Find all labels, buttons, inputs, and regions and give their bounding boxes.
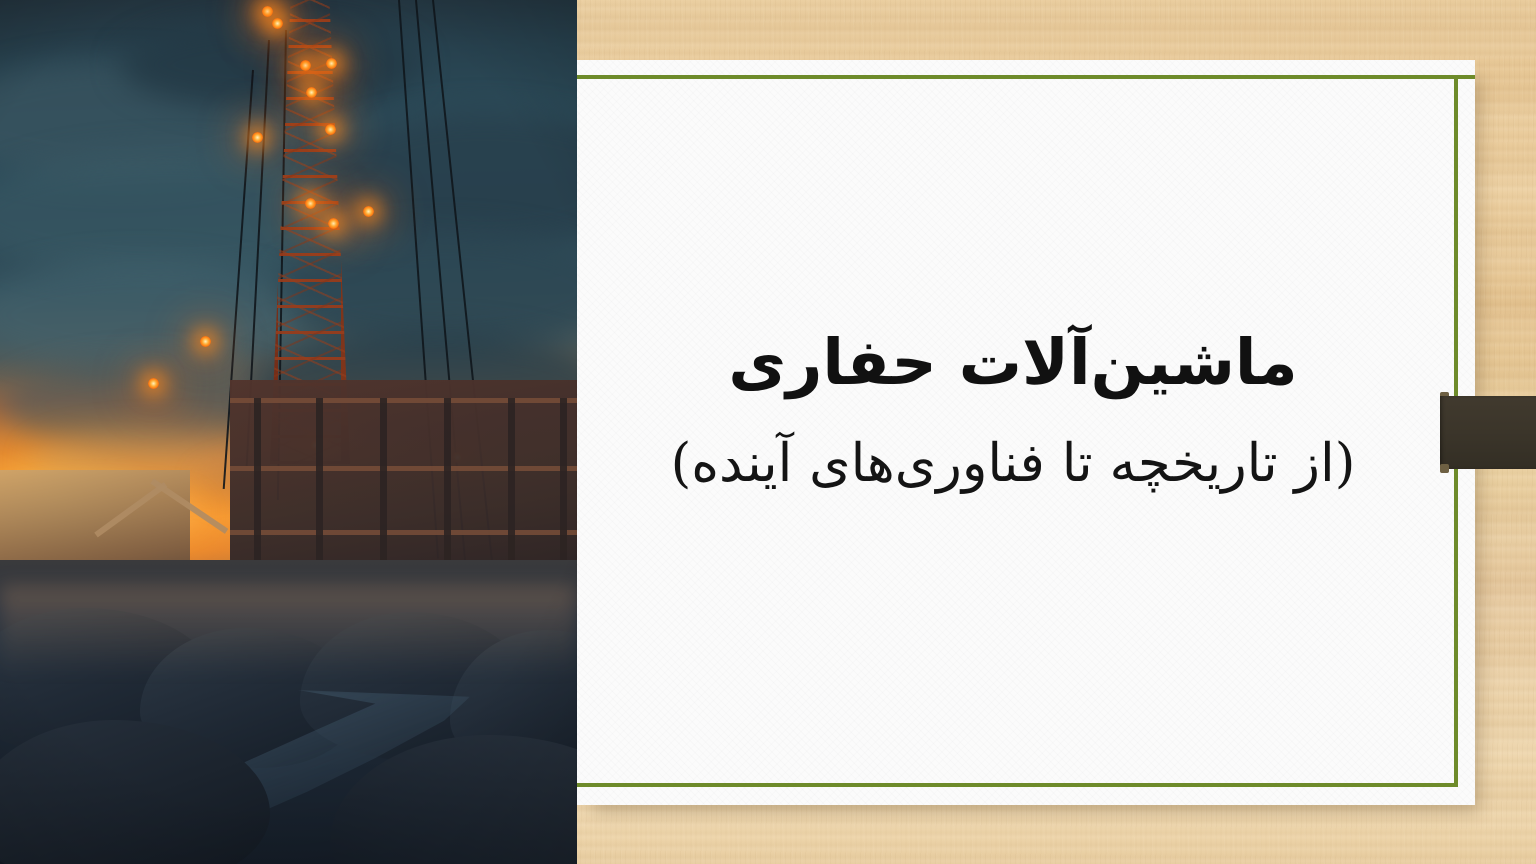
photo-vignette xyxy=(0,0,577,864)
presentation-slide: ماشین‌آلات حفاری (از تاریخچه تا فناوری‌ه… xyxy=(0,0,1536,864)
ribbon-cap-bottom xyxy=(1440,464,1449,473)
page-subtitle: (از تاریخچه تا فناوری‌های آینده) xyxy=(671,428,1356,500)
title-card: ماشین‌آلات حفاری (از تاریخچه تا فناوری‌ه… xyxy=(577,60,1475,805)
page-title: ماشین‌آلات حفاری xyxy=(728,325,1297,402)
drilling-rig-photo xyxy=(0,0,577,864)
ribbon-inner-shadow xyxy=(1440,396,1536,469)
title-block: ماشین‌آلات حفاری (از تاریخچه تا فناوری‌ه… xyxy=(577,60,1475,805)
